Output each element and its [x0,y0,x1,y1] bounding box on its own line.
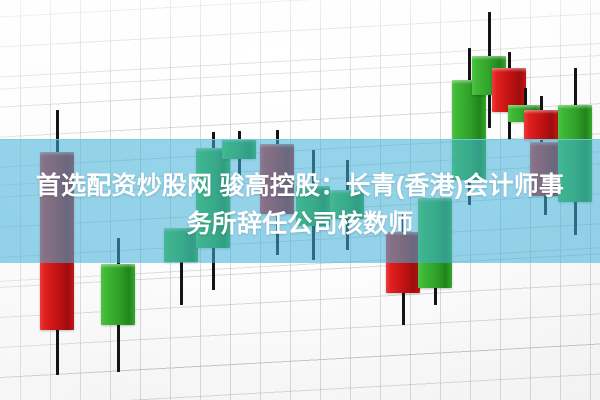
candle-body-up [101,264,135,325]
headline-line-1: 首选配资炒股网 骏高控股：长青(香港)会计师事 [0,167,600,205]
headline-text: 首选配资炒股网 骏高控股：长青(香港)会计师事 务所辞任公司核数师 [0,167,600,243]
candle-body-up [222,139,256,159]
headline-line-2: 务所辞任公司核数师 [0,205,600,243]
candlestick-banner-image: 首选配资炒股网 骏高控股：长青(香港)会计师事 务所辞任公司核数师 [0,0,600,400]
